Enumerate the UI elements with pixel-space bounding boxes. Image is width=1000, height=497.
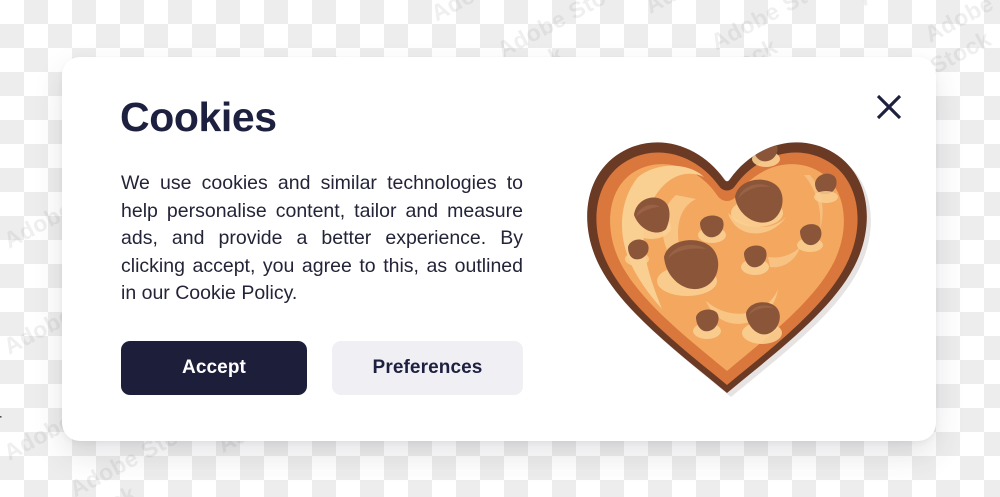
banner-body-text: We use cookies and similar technologies … xyxy=(121,170,523,308)
adobe-stock-watermark-label: Adobe Stock | #467459927 xyxy=(0,349,2,491)
accept-button[interactable]: Accept xyxy=(121,341,307,395)
cookie-consent-banner: Cookies We use cookies and similar techn… xyxy=(62,57,936,441)
preferences-button[interactable]: Preferences xyxy=(332,341,523,395)
screenshot-canvas: Adobe StockAdobe StockAdobe StockAdobe S… xyxy=(0,0,1000,497)
banner-button-row: Accept Preferences xyxy=(121,341,523,395)
heart-cookie-illustration xyxy=(572,105,882,405)
banner-title: Cookies xyxy=(120,97,277,138)
